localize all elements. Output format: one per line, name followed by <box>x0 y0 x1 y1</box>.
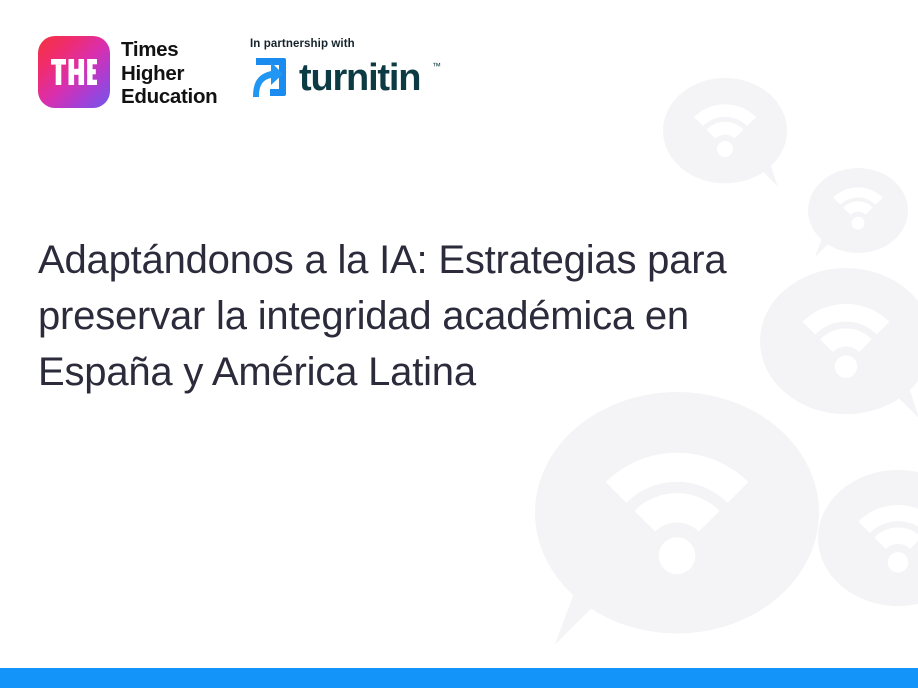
slide-canvas: Times Higher Education In partnership wi… <box>0 0 918 688</box>
svg-text:turnitin: turnitin <box>299 57 420 99</box>
wifi-glyph-bottom-right <box>858 505 918 573</box>
title-line-1: Adaptándonos a la IA: Estrategias para <box>38 238 726 282</box>
wifi-speech-bubble-large-center <box>535 392 819 645</box>
turnitin-wordmark: turnitin ™ <box>299 56 449 100</box>
turnitin-lockup-row: turnitin ™ <box>250 56 449 100</box>
title-line-3: España y América Latina <box>38 350 476 394</box>
turnitin-arrow-icon <box>250 56 290 100</box>
the-wordmark: Times Higher Education <box>121 36 217 109</box>
the-wordmark-line-3: Education <box>121 85 217 109</box>
page-title: Adaptándonos a la IA: Estrategias para p… <box>38 232 848 400</box>
times-higher-education-logo: Times Higher Education <box>38 36 217 109</box>
wifi-speech-bubble-bottom-right <box>818 470 918 610</box>
bottom-accent-bar <box>0 668 918 688</box>
the-wordmark-line-1: Times <box>121 38 217 62</box>
title-line-2: preservar la integridad académica en <box>38 294 689 338</box>
the-logo-mark-icon <box>38 36 110 108</box>
turnitin-logo: In partnership with turnitin ™ <box>250 38 449 100</box>
partnership-label: In partnership with <box>250 38 449 50</box>
svg-text:™: ™ <box>432 61 441 71</box>
logo-bar: Times Higher Education In partnership wi… <box>0 0 918 130</box>
wifi-glyph-large-center <box>606 453 749 574</box>
the-wordmark-line-2: Higher <box>121 62 217 86</box>
wifi-glyph-mid-right <box>833 187 883 229</box>
